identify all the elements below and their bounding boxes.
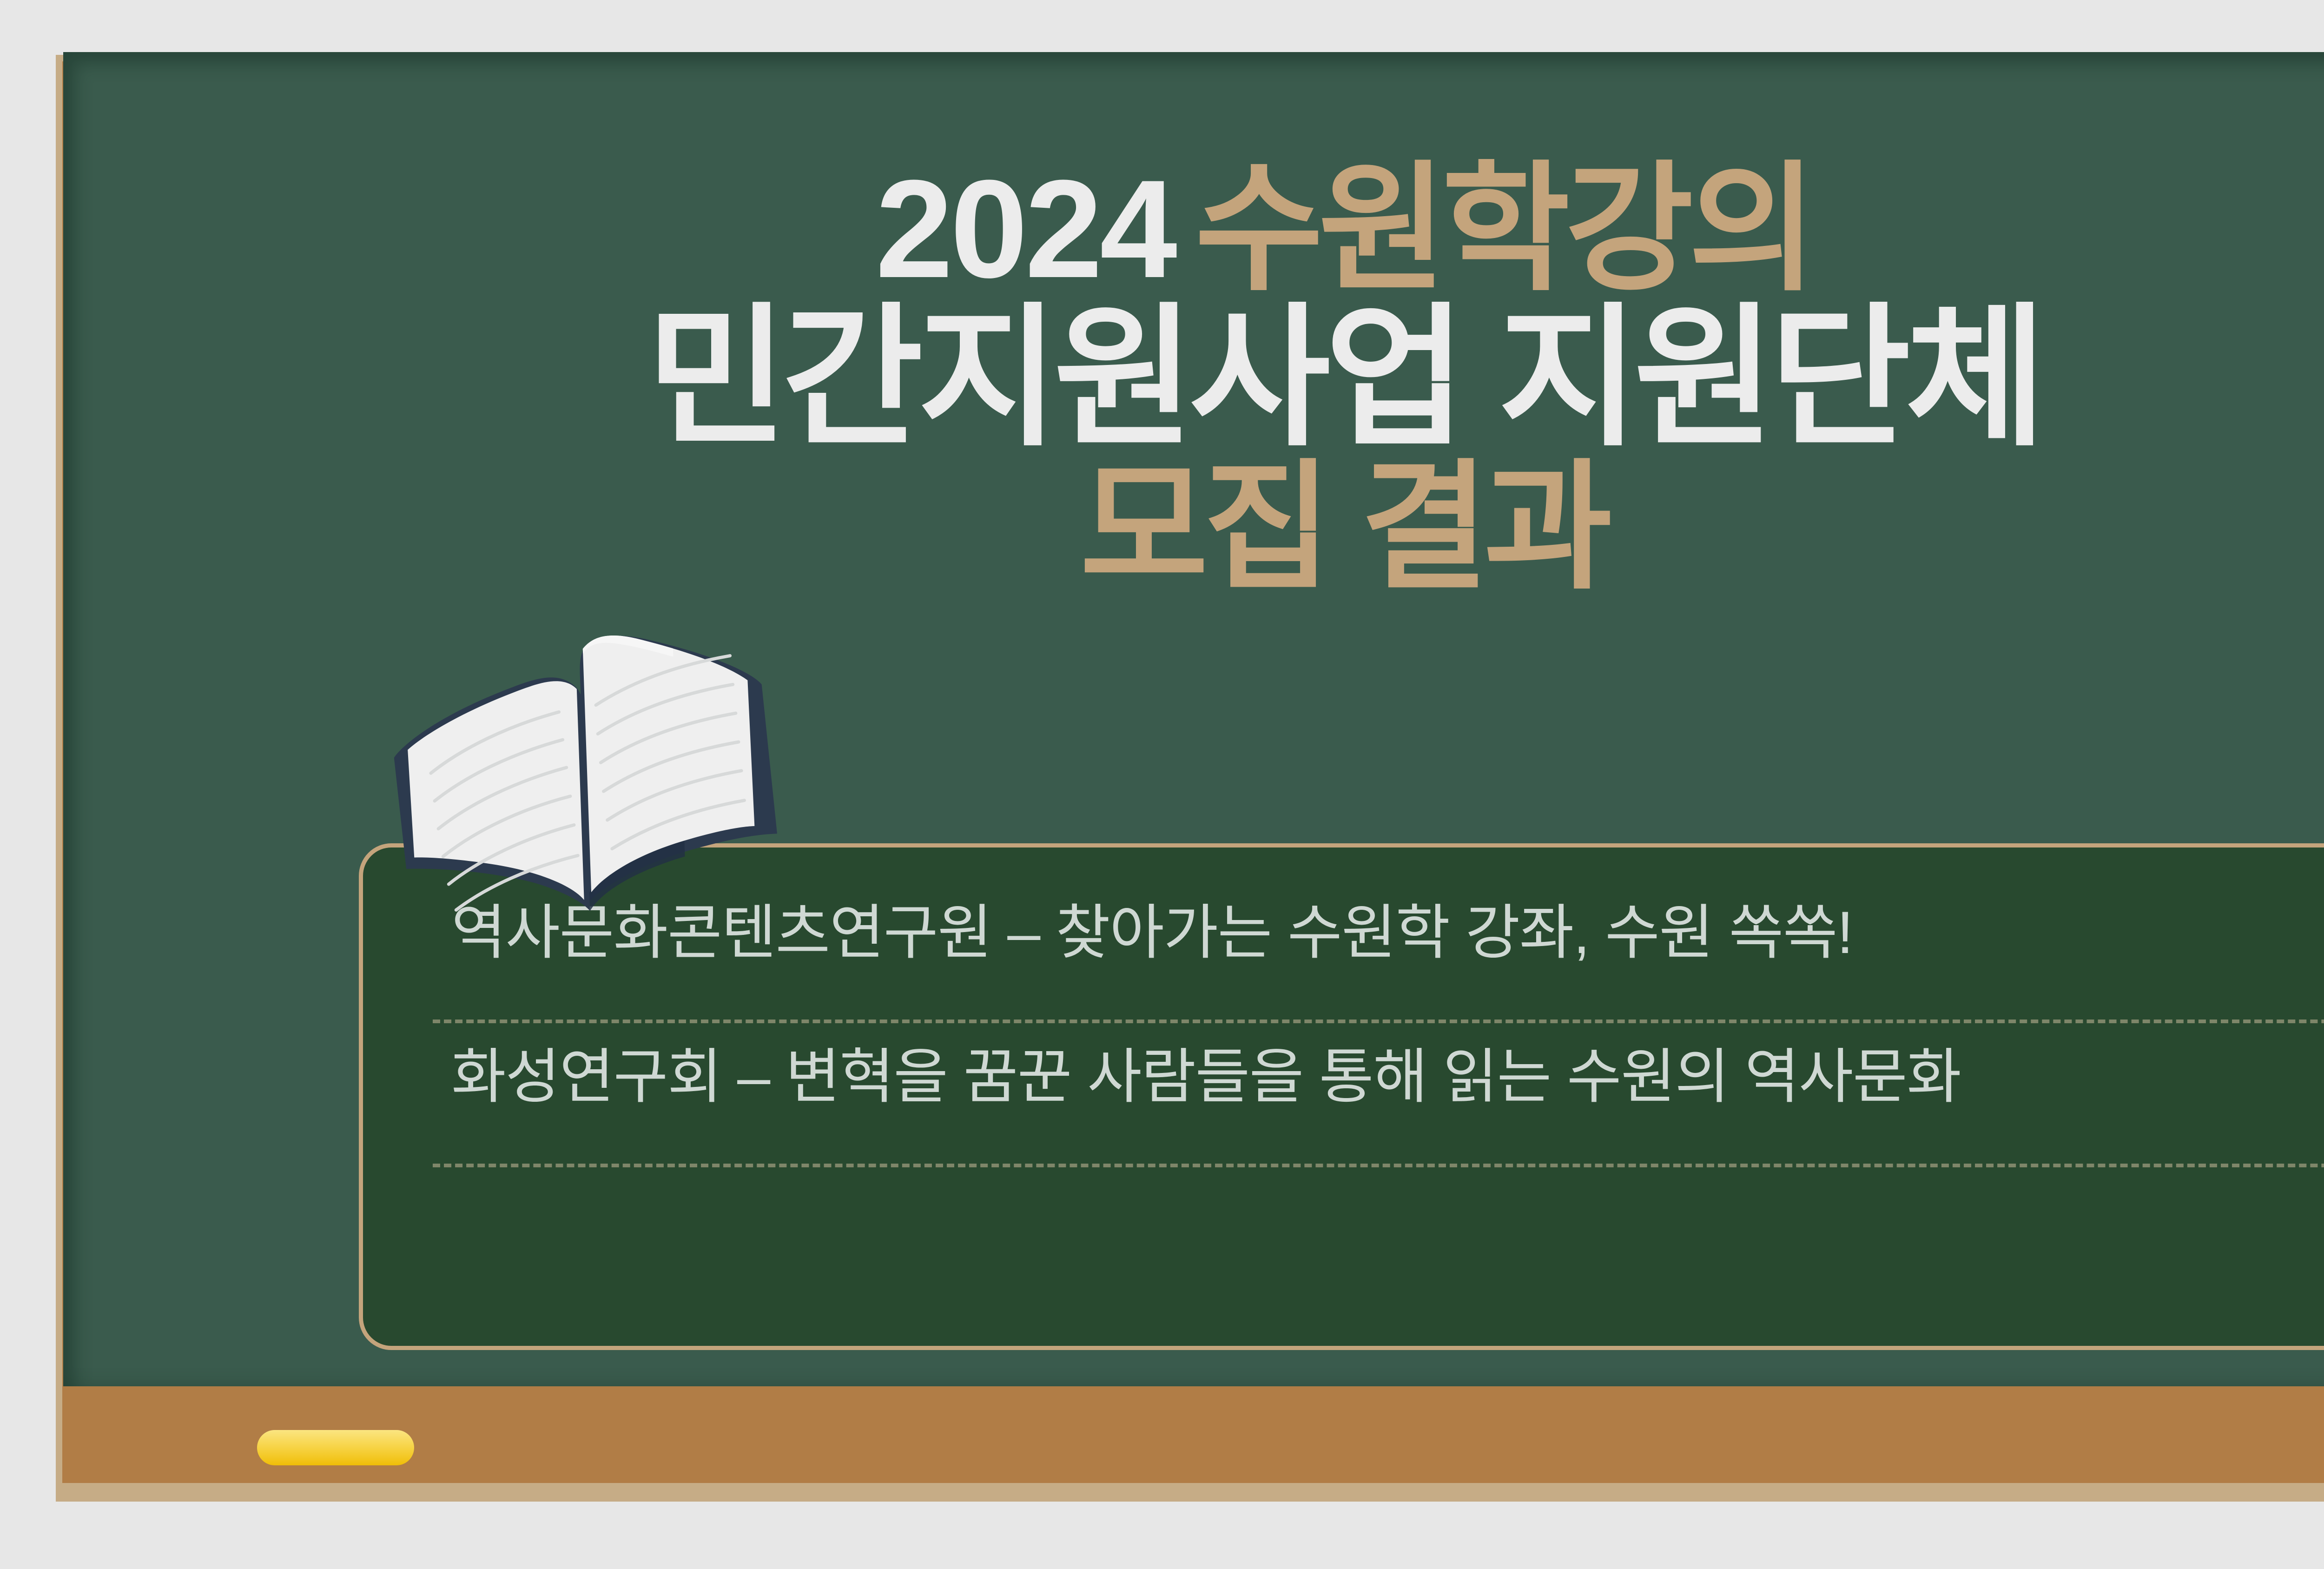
row-divider (433, 1020, 2324, 1023)
headline-line-1: 2024수원학강의 (63, 159, 2324, 298)
row-divider (433, 1164, 2324, 1167)
chalkboard-surface: 2024수원학강의 민간지원사업 지원단체 모집 결과 역사문화콘텐츠연구원 –… (63, 52, 2324, 1386)
headline-year: 2024 (876, 151, 1175, 307)
page-title: 2024수원학강의 민간지원사업 지원단체 모집 결과 (63, 159, 2324, 597)
results-row: 화성연구회 – 변혁을 꿈꾼 사람들을 통해 읽는 수원의 역사문화 (433, 1047, 2324, 1192)
open-book-icon (369, 579, 789, 937)
poster-stage: 2024수원학강의 민간지원사업 지원단체 모집 결과 역사문화콘텐츠연구원 –… (0, 0, 2324, 1569)
headline-subject: 수원학강의 (1195, 151, 1812, 307)
chalk-eraser-icon (257, 1430, 414, 1465)
headline-line-2: 민간지원사업 지원단체 (63, 301, 2324, 455)
headline-line-3: 모집 결과 (63, 457, 2324, 597)
result-item-label: 화성연구회 – 변혁을 꿈꾼 사람들을 통해 읽는 수원의 역사문화 (433, 1047, 2324, 1107)
